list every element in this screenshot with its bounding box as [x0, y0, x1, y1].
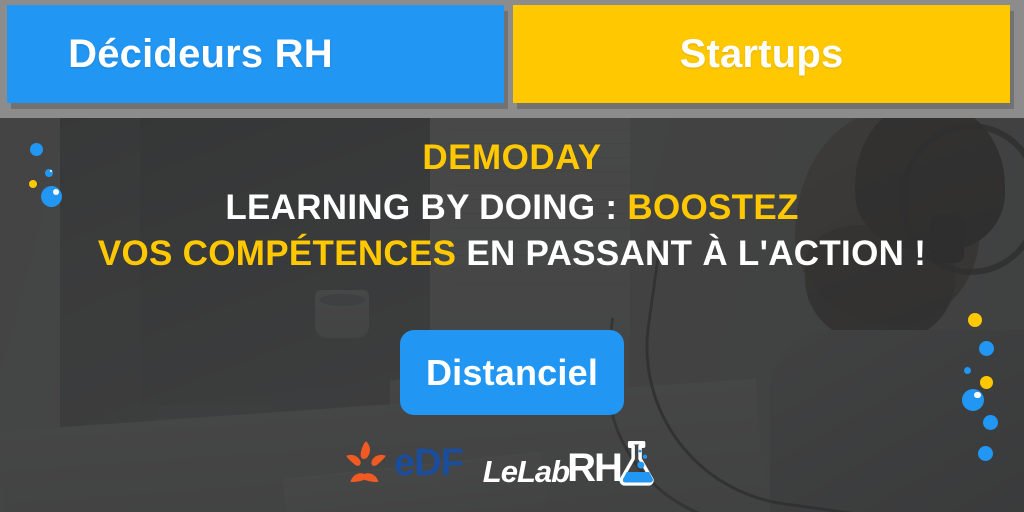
decor-dot-left-3-highlight: [53, 189, 59, 195]
audience-banner-decideurs-rh-label: Décideurs RH: [68, 32, 443, 77]
decor-dot-right-6: [978, 446, 993, 461]
audience-banner-startups-label: Startups: [680, 32, 844, 77]
lelab-logo-rh: RH: [567, 450, 621, 487]
distanciel-button-label: Distanciel: [426, 352, 598, 394]
decor-dot-right-4-highlight: [974, 392, 981, 399]
headline-line-3-yellow: VOS COMPÉTENCES: [98, 234, 456, 273]
headline-eyebrow: DEMODAY: [0, 140, 1024, 175]
headline-line-3: VOS COMPÉTENCES EN PASSANT À L'ACTION !: [0, 236, 1024, 271]
headline-line-2-white: LEARNING BY DOING :: [225, 188, 617, 227]
lelab-logo-script: LeLab: [483, 456, 569, 487]
decor-dot-left-0: [30, 143, 43, 156]
audience-banner-startups[interactable]: Startups: [513, 5, 1010, 103]
promo-banner-canvas: Décideurs RH Startups DEMODAY LEARNING B…: [0, 0, 1024, 512]
decor-dot-right-0: [968, 313, 982, 327]
decor-dot-right-3: [980, 376, 993, 389]
edf-logo-text: eDF: [394, 444, 463, 482]
decor-dot-right-5: [983, 415, 998, 430]
decor-dot-left-3: [41, 186, 62, 207]
headline-line-3-white: EN PASSANT À L'ACTION !: [466, 234, 926, 273]
distanciel-button[interactable]: Distanciel: [400, 330, 624, 415]
decor-dot-right-4: [962, 389, 984, 411]
decor-dot-left-1: [45, 169, 53, 177]
headline-line-2: LEARNING BY DOING : BOOSTEZ: [0, 190, 1024, 225]
decor-dot-right-1: [979, 341, 994, 356]
decor-dot-left-1-highlight: [50, 170, 52, 172]
edf-logo[interactable]: eDF: [340, 437, 463, 489]
headline-block: DEMODAY LEARNING BY DOING : BOOSTEZ VOS …: [0, 140, 1024, 282]
flask-icon: [617, 440, 659, 486]
edf-pinwheel-icon: [340, 437, 392, 489]
audience-banner-decideurs-rh[interactable]: Décideurs RH: [7, 5, 504, 103]
decor-dot-left-2: [29, 180, 37, 188]
lelab-rh-logo[interactable]: LeLab RH: [483, 440, 659, 487]
logo-row: eDF LeLab RH: [340, 432, 710, 494]
headline-line-2-yellow: BOOSTEZ: [627, 188, 798, 227]
decor-dot-right-2: [964, 367, 971, 374]
